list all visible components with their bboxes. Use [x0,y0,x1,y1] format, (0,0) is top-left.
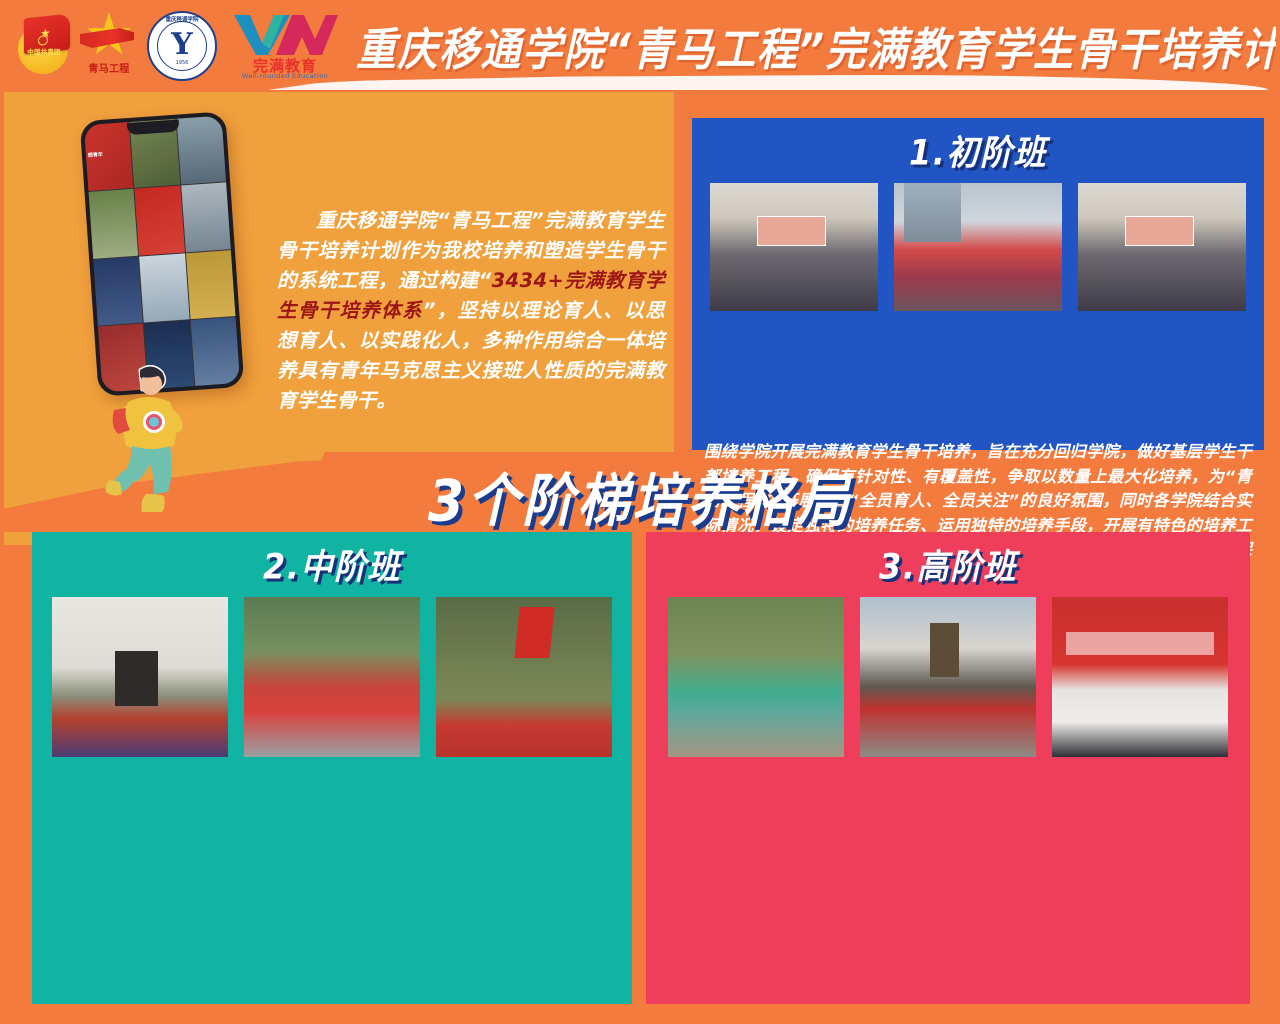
panel-advanced-stage: 3.高阶班 以培养学生骨干领袖为目标，一方面从有深度、广度、宽度的角度对学员进行… [646,532,1250,1004]
red-flag-ceremony-photo [244,597,420,757]
page-title: 重庆移通学院“青马工程”完满教育学生骨干培养计划 [356,14,1280,79]
photo-row-advanced [646,597,1250,757]
phone-mockup: 燃青年 [80,111,245,397]
section-headline: 3个阶梯培养格局 [0,454,1280,537]
panel-title-advanced: 3.高阶班 [646,530,1250,589]
classroom-lecture-photo [710,183,878,311]
collage-photo [93,256,143,325]
photo-row-intermediate [32,597,632,757]
poster-canvas: ★ 中国共青团 青马工程 重庆移通学院 Y 1956 [0,0,1280,1024]
vm-mark-icon [232,13,338,55]
military-training-photo [436,597,612,757]
university-seal-logo: 重庆移通学院 Y 1956 [144,8,220,84]
vm-subtitle: Well-rounded Education [226,72,344,80]
phone-screen-collage: 燃青年 [84,116,240,393]
collage-photo [176,116,226,185]
panel-title-primary: 1.初阶班 [692,116,1264,175]
certificate-ceremony-photo [1052,597,1228,757]
collage-photo [186,250,236,319]
collage-banner-text: 燃青年 [88,150,103,158]
collage-photo [89,189,139,258]
collage-photo: 燃青年 [84,122,134,191]
collage-photo [139,253,189,322]
intro-paragraph: 重庆移通学院“青马工程”完满教育学生骨干培养计划作为我校培养和塑造学生骨干的系统… [277,206,665,416]
qingma-project-logo: 青马工程 [80,8,138,84]
qingma-caption: 青马工程 [80,60,138,75]
seal-top-text: 重庆移通学院 [144,15,220,23]
collage-photo [135,186,185,255]
logo-strip: ★ 中国共青团 青马工程 重庆移通学院 Y 1956 [0,4,344,88]
collage-photo [181,183,231,252]
communist-youth-league-logo: ★ 中国共青团 [14,10,74,82]
poster-right-edge [1276,0,1280,1024]
seal-year: 1956 [144,60,220,66]
red-swoosh-icon [80,28,134,48]
panel-title-intermediate: 2.中阶班 [32,530,632,589]
memorial-hall-group-photo [52,597,228,757]
orchard-banner-group-photo [668,597,844,757]
poster-header: ★ 中国共青团 青马工程 重庆移通学院 Y 1956 [0,0,1280,92]
photo-row-primary [692,183,1264,311]
statue-memorial-group-photo [860,597,1036,757]
cyl-caption: 中国共青团 [23,46,65,56]
classroom-lecture-photo-2 [1078,183,1246,311]
volunteer-group-children-photo [894,183,1062,311]
ring-icon [38,35,48,46]
well-rounded-education-logo: 完满教育 Well-rounded Education [226,7,344,85]
poster-left-edge [0,0,4,1024]
panel-intermediate-stage: 2.中阶班 在培养方向上，确保“完骨计划”在大学生骨干培养定位上做到国家所期、高… [32,532,632,1004]
panel-primary-stage: 1.初阶班 围绕学院开展完满教育学生骨干培养，旨在充分回归学院，做好基层学生干部… [692,118,1264,450]
seal-monogram-icon: Y [166,29,198,61]
